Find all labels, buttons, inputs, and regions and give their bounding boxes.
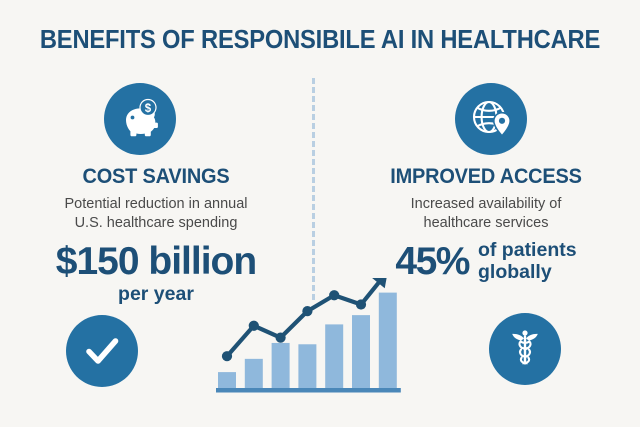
chart-baseline bbox=[216, 388, 401, 393]
panel-subtitle-line-2: U.S. healthcare spending bbox=[8, 214, 304, 233]
chart-trend-marker bbox=[276, 333, 286, 343]
chart-bar bbox=[245, 359, 263, 388]
svg-text:$: $ bbox=[145, 103, 152, 115]
chart-bar bbox=[352, 315, 370, 388]
chart-baseline-group bbox=[216, 388, 401, 393]
chart-bar bbox=[325, 324, 343, 388]
piggy-bank-icon: $ bbox=[104, 83, 176, 155]
checkmark-icon bbox=[66, 315, 138, 387]
chart-trend-marker bbox=[222, 351, 232, 361]
globe-location-icon bbox=[455, 83, 527, 155]
stat-value-improved-access: 45% bbox=[395, 242, 469, 281]
chart-bar bbox=[218, 372, 236, 388]
panel-heading-improved-access: IMPROVED ACCESS bbox=[347, 165, 624, 189]
panel-subtitle-line-1: Potential reduction in annual bbox=[65, 196, 248, 212]
panel-subtitle-improved-access: Increased availability of healthcare ser… bbox=[340, 195, 632, 232]
growth-chart bbox=[210, 278, 425, 396]
chart-bar bbox=[379, 293, 397, 388]
stat-unit-line-2: globally bbox=[478, 262, 577, 284]
chart-trend-marker bbox=[249, 321, 259, 331]
panel-subtitle-line-1: Increased availability of bbox=[411, 196, 562, 212]
chart-bar bbox=[298, 344, 316, 388]
chart-bar bbox=[272, 343, 290, 388]
chart-trend-marker bbox=[329, 290, 339, 300]
growth-chart-svg bbox=[210, 278, 425, 396]
panel-heading-cost-savings: COST SAVINGS bbox=[15, 165, 296, 189]
stat-unit-line-1: of patients bbox=[478, 240, 577, 262]
chart-trend-marker bbox=[302, 306, 312, 316]
stat-unit-improved-access: of patients globally bbox=[478, 240, 577, 284]
panel-improved-access: IMPROVED ACCESS Increased availability o… bbox=[340, 165, 632, 284]
infographic-canvas: BENEFITS OF RESPONSIBILE AI IN HEALTHCAR… bbox=[0, 0, 640, 427]
panel-subtitle-cost-savings: Potential reduction in annual U.S. healt… bbox=[8, 195, 304, 232]
caduceus-icon bbox=[489, 313, 561, 385]
vertical-dashed-divider bbox=[312, 78, 315, 300]
stat-value-cost-savings: $150 billion bbox=[8, 242, 304, 281]
panel-subtitle-line-2: healthcare services bbox=[340, 214, 632, 233]
page-title: BENEFITS OF RESPONSIBILE AI IN HEALTHCAR… bbox=[22, 26, 617, 55]
chart-trend-marker bbox=[356, 299, 366, 309]
